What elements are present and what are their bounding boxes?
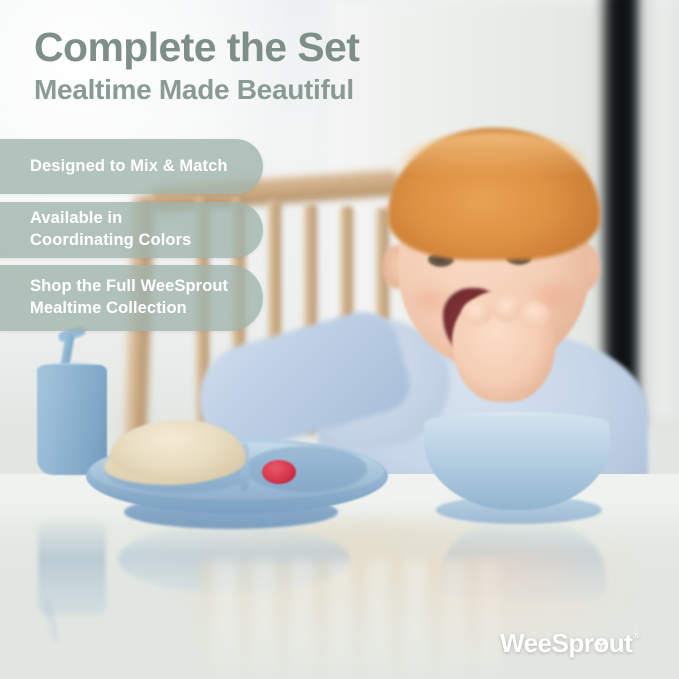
brand-name-part2: ut <box>609 628 633 659</box>
registered-trademark-mark: ® <box>633 630 639 640</box>
sprout-icon-letter-o: o <box>593 628 608 659</box>
child-knuckle <box>520 302 550 328</box>
feature-pill-line2: Mealtime Collection <box>30 298 228 320</box>
reflection-fade <box>0 560 679 679</box>
product-lifestyle-image: Complete the Set Mealtime Made Beautiful… <box>0 0 679 679</box>
child-knuckle <box>462 300 492 326</box>
child-knuckle <box>492 296 522 322</box>
page-subtitle: Mealtime Made Beautiful <box>34 76 354 104</box>
feature-pill-coordinating-colors: Available inCoordinating Colors <box>0 202 263 258</box>
feature-pill-line1: Available in <box>30 208 191 230</box>
page-title: Complete the Set <box>34 27 359 68</box>
light-wall-edge <box>640 0 679 420</box>
feature-pill-mix-match: Designed to Mix & Match <box>0 139 263 194</box>
feature-pill-line1: Shop the Full WeeSprout <box>30 276 228 298</box>
feature-pill-label: Available inCoordinating Colors <box>0 208 217 252</box>
feature-pill-line2: Coordinating Colors <box>30 230 191 252</box>
sprout-plant-icon <box>595 638 608 651</box>
brand-name-part1: WeeSpr <box>500 628 593 659</box>
food-raspberry <box>262 460 296 484</box>
brand-logo: WeeSpr o ut ® <box>500 628 639 659</box>
feature-pill-shop-collection: Shop the Full WeeSproutMealtime Collecti… <box>0 265 263 331</box>
feature-pill-label: Shop the Full WeeSproutMealtime Collecti… <box>0 276 254 320</box>
feature-pill-label: Designed to Mix & Match <box>0 156 254 178</box>
silicone-cup <box>37 365 107 475</box>
